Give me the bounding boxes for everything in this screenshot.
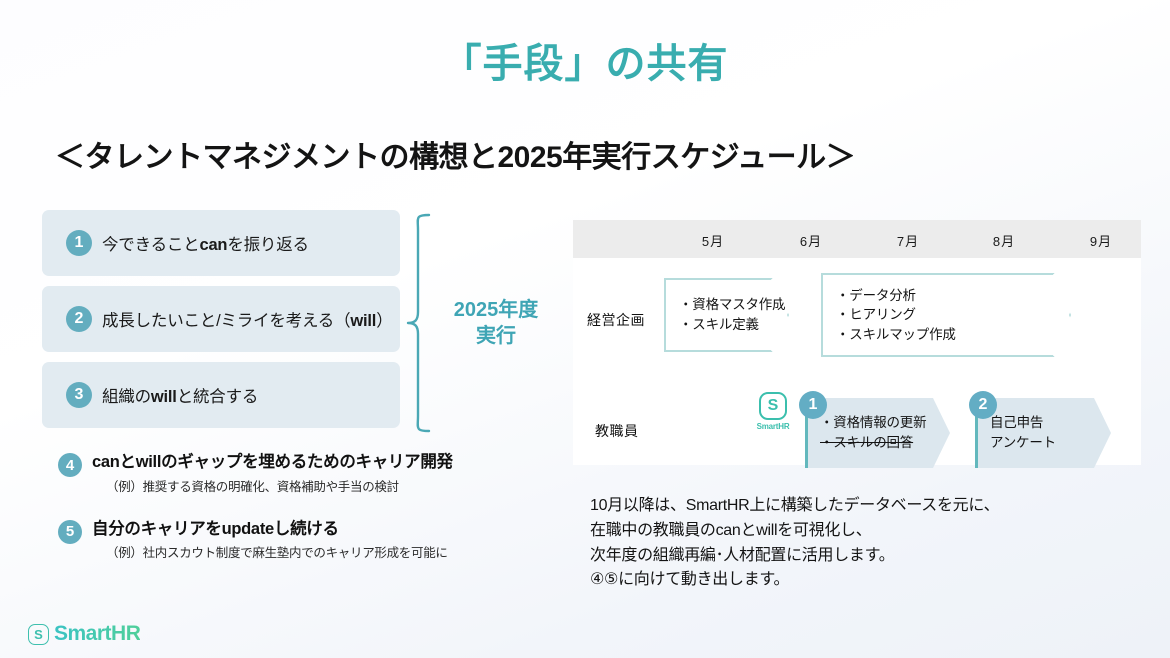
timeline-task-1-2-line-3: ・スキルマップ作成	[836, 325, 1070, 345]
bottom-note-line-3: 次年度の組織再編･人材配置に活用します。	[590, 544, 999, 569]
smarthr-logo-icon: S	[759, 392, 787, 420]
step-label-3-post: と統合する	[177, 388, 259, 406]
footer-logo: S SmartHR	[28, 622, 140, 646]
step-label-2-bold: will	[350, 312, 376, 330]
smarthr-mark: S SmartHR	[750, 392, 796, 431]
step-label-2-pre: 成長したいこと/ミライを考える（	[102, 312, 350, 330]
step-badge-5: 5	[58, 520, 82, 544]
footer-logo-label: SmartHR	[54, 622, 140, 646]
step-label-1-pre: 今できること	[102, 236, 199, 254]
step-badge-4: 4	[58, 453, 82, 477]
bottom-note-line-1: 10月以降は、SmartHR上に構築したデータベースを元に、	[590, 494, 999, 519]
timeline-row-label-2: 教職員	[595, 421, 639, 441]
step-badge-2: 2	[66, 306, 92, 332]
step-label-2: 成長したいこと/ミライを考える（will）	[102, 307, 393, 331]
steps-list: 1 今できることcanを振り返る 2 成長したいこと/ミライを考える（will）…	[42, 210, 400, 438]
step-sublabel-4: （例）推奨する資格の明確化、資格補助や手当の検討	[106, 476, 453, 495]
timeline-task-1-1-line-1: ・資格マスタ作成	[679, 295, 788, 315]
timeline-panel: 5月 6月 7月 8月 9月 経営企画 教職員 ・資格マスタ作成 ・スキル定義 …	[573, 220, 1141, 465]
step-badge-1: 1	[66, 230, 92, 256]
timeline-task-2-1-badge: 1	[799, 391, 827, 419]
step-label-1-bold: can	[199, 236, 227, 254]
step-label-3-bold: will	[151, 388, 177, 406]
step-item-1: 1 今できることcanを振り返る	[42, 210, 400, 276]
brace-label-line2: 実行	[432, 323, 560, 349]
step-label-1-post: を振り返る	[227, 236, 309, 254]
step-label-5: 自分のキャリアをupdateし続ける	[92, 519, 448, 540]
timeline-task-1-1: ・資格マスタ作成 ・スキル定義	[664, 278, 789, 352]
month-label-2: 6月	[800, 231, 822, 250]
timeline-task-1-2-line-2: ・ヒアリング	[836, 305, 1070, 325]
step-label-1: 今できることcanを振り返る	[102, 231, 309, 255]
page-subtitle: ＜タレントマネジメントの構想と2025年実行スケジュール＞	[55, 132, 855, 176]
step-badge-3: 3	[66, 382, 92, 408]
timeline-task-2-2-line-1: 自己申告	[990, 413, 1111, 433]
step-item-4: 4 canとwillのギャップを埋めるためのキャリア開発 （例）推奨する資格の明…	[58, 452, 498, 495]
smarthr-mark-label: SmartHR	[750, 422, 796, 431]
timeline-task-2-2-line-2: アンケート	[990, 433, 1111, 453]
bottom-note-line-2: 在職中の教職員のcanとwillを可視化し、	[590, 519, 999, 544]
brace-label: 2025年度 実行	[432, 297, 560, 349]
bottom-note: 10月以降は、SmartHR上に構築したデータベースを元に、 在職中の教職員のc…	[590, 494, 999, 593]
timeline-task-1-2-line-1: ・データ分析	[836, 286, 1070, 306]
bottom-note-line-4: ④⑤に向けて動き出します。	[590, 568, 999, 593]
timeline-task-1-2: ・データ分析 ・ヒアリング ・スキルマップ作成	[821, 273, 1071, 357]
step-item-3: 3 組織のwillと統合する	[42, 362, 400, 428]
timeline-rows: 経営企画 教職員 ・資格マスタ作成 ・スキル定義 ・データ分析 ・ヒアリング ・…	[573, 258, 1141, 465]
curly-brace-icon	[405, 212, 433, 434]
month-label-3: 7月	[897, 231, 919, 250]
step-item-2: 2 成長したいこと/ミライを考える（will）	[42, 286, 400, 352]
step-sublabel-5: （例）社内スカウト制度で麻生塾内でのキャリア形成を可能に	[106, 542, 448, 561]
step-label-3-pre: 組織の	[102, 388, 151, 406]
month-label-5: 9月	[1090, 231, 1112, 250]
timeline-task-2-2-badge: 2	[969, 391, 997, 419]
timeline-task-2-1-line-1: ・資格情報の更新	[820, 413, 950, 433]
smarthr-logo-icon-footer: S	[28, 624, 49, 645]
timeline-row-label-1: 経営企画	[587, 310, 645, 330]
timeline-month-header: 5月 6月 7月 8月 9月	[573, 220, 1141, 258]
brace-label-line1: 2025年度	[432, 297, 560, 323]
step-label-4: canとwillのギャップを埋めるためのキャリア開発	[92, 452, 453, 473]
steps-list-secondary: 4 canとwillのギャップを埋めるためのキャリア開発 （例）推奨する資格の明…	[58, 452, 498, 585]
timeline-task-1-1-line-2: ・スキル定義	[679, 315, 788, 335]
timeline-task-2-1-line-2: ・スキルの回答	[820, 433, 950, 453]
step-item-5: 5 自分のキャリアをupdateし続ける （例）社内スカウト制度で麻生塾内でのキ…	[58, 519, 498, 562]
step-label-2-post: ）	[376, 312, 392, 330]
step-label-3: 組織のwillと統合する	[102, 383, 258, 407]
month-label-4: 8月	[993, 231, 1015, 250]
timeline-task-2-1: ・資格情報の更新 ・スキルの回答	[805, 398, 950, 468]
page-title: 「手段」の共有	[0, 42, 1170, 86]
month-label-1: 5月	[702, 231, 724, 250]
